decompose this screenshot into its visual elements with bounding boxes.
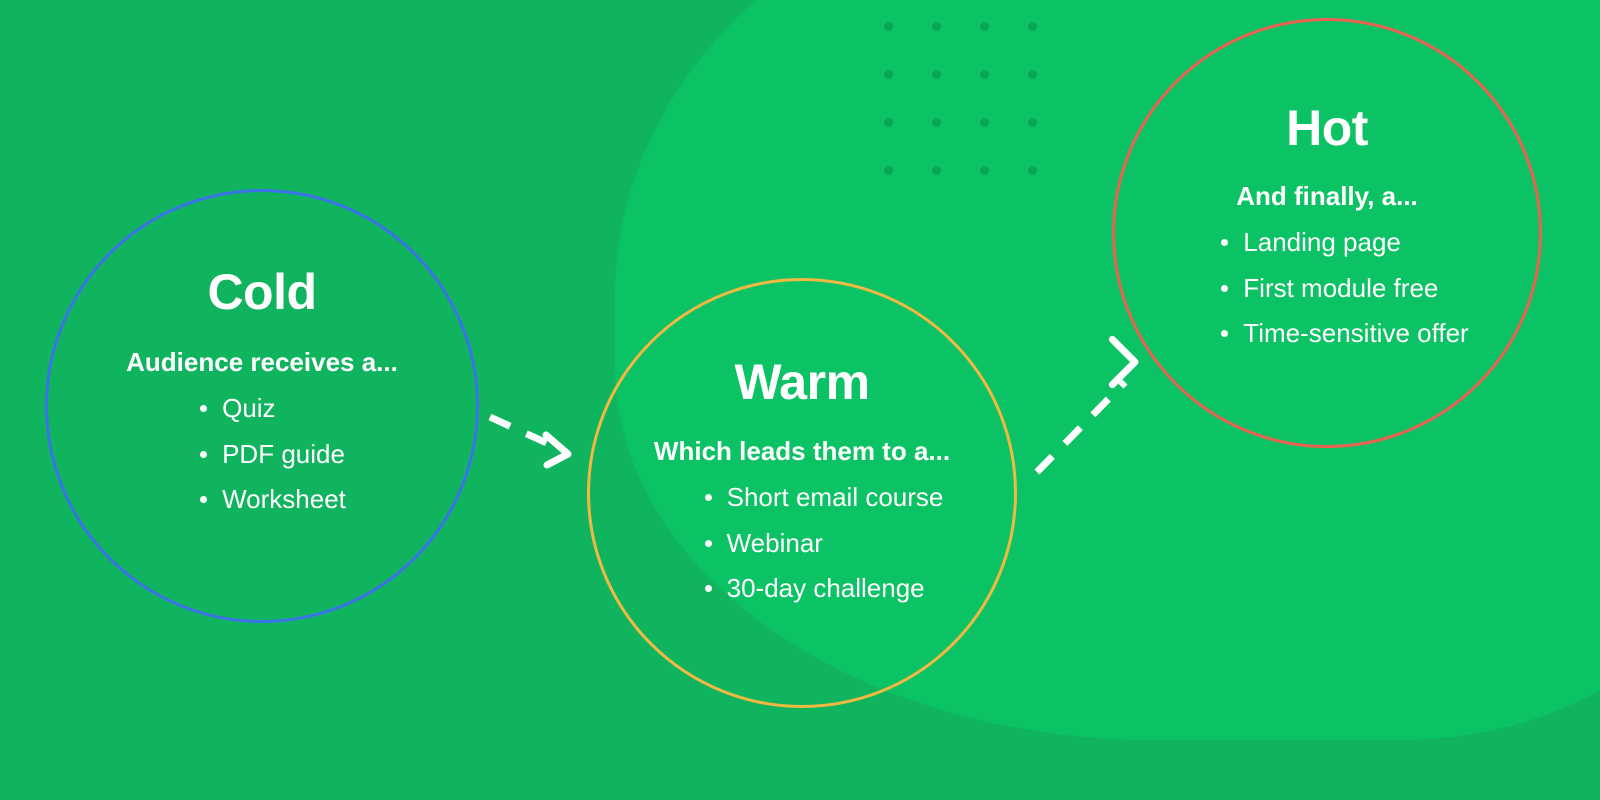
stage-title-warm: Warm xyxy=(734,357,869,407)
grid-dot xyxy=(1028,22,1037,31)
list-item: Time-sensitive offer xyxy=(1217,319,1468,348)
arrow-warm-to-hot-icon xyxy=(1025,350,1165,490)
grid-dot xyxy=(932,22,941,31)
grid-dot xyxy=(980,70,989,79)
list-item: Landing page xyxy=(1217,228,1468,257)
stage-circle-hot[interactable]: Hot And finally, a... Landing page First… xyxy=(1112,18,1542,448)
list-item: Short email course xyxy=(701,483,944,512)
grid-dot xyxy=(932,118,941,127)
stage-circle-warm[interactable]: Warm Which leads them to a... Short emai… xyxy=(587,278,1017,708)
list-item: Quiz xyxy=(196,394,346,423)
list-item: Worksheet xyxy=(196,485,346,514)
stage-circle-cold[interactable]: Cold Audience receives a... Quiz PDF gui… xyxy=(45,189,479,623)
list-item: First module free xyxy=(1217,274,1468,303)
grid-dot xyxy=(980,166,989,175)
stage-list-hot: Landing page First module free Time-sens… xyxy=(1217,212,1468,348)
diagram-canvas: Cold Audience receives a... Quiz PDF gui… xyxy=(0,0,1600,800)
grid-dot xyxy=(980,118,989,127)
stage-lead-cold: Audience receives a... xyxy=(126,347,398,378)
list-item: PDF guide xyxy=(196,440,346,469)
grid-dot xyxy=(1028,118,1037,127)
grid-dot xyxy=(884,166,893,175)
grid-dot xyxy=(884,70,893,79)
stage-list-warm: Short email course Webinar 30-day challe… xyxy=(701,467,944,603)
stage-title-hot: Hot xyxy=(1286,103,1368,153)
list-item: Webinar xyxy=(701,529,944,558)
grid-dot xyxy=(884,22,893,31)
grid-dot xyxy=(1028,70,1037,79)
arrow-cold-to-warm-icon xyxy=(480,395,590,485)
stage-lead-hot: And finally, a... xyxy=(1236,181,1418,212)
grid-dot xyxy=(932,70,941,79)
grid-dot xyxy=(980,22,989,31)
list-item: 30-day challenge xyxy=(701,574,944,603)
grid-dot xyxy=(1028,166,1037,175)
stage-title-cold: Cold xyxy=(207,267,316,317)
grid-dot xyxy=(884,118,893,127)
stage-lead-warm: Which leads them to a... xyxy=(654,436,950,467)
grid-dot xyxy=(932,166,941,175)
stage-list-cold: Quiz PDF guide Worksheet xyxy=(196,378,346,514)
dot-grid xyxy=(884,22,1044,182)
